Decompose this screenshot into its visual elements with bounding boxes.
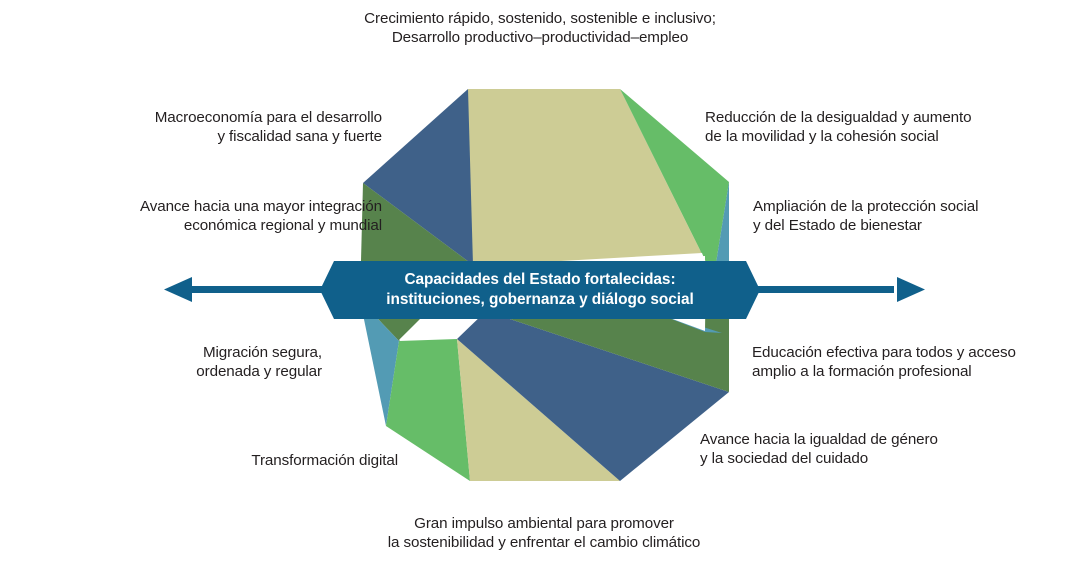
- banner-line-1: Capacidades del Estado fortalecidas:: [404, 270, 675, 290]
- label-digital-transformation: Transformación digital: [100, 452, 398, 471]
- label-inequality-reduction: Reducción de la desigualdad y aumento de…: [705, 109, 1035, 147]
- banner-line-2: instituciones, gobernanza y diálogo soci…: [386, 290, 693, 310]
- label-social-protection: Ampliación de la protección social y del…: [753, 198, 1053, 236]
- label-regional-integration: Avance hacia una mayor integración econó…: [56, 198, 382, 236]
- label-education: Educación efectiva para todos y acceso a…: [752, 344, 1050, 382]
- center-banner-text: Capacidades del Estado fortalecidas: ins…: [334, 261, 746, 319]
- label-growth-development: Crecimiento rápido, sostenido, sostenibl…: [334, 10, 746, 48]
- label-environmental-push: Gran impulso ambiental para promover la …: [340, 515, 748, 553]
- label-macroeconomics: Macroeconomía para el desarrollo y fisca…: [68, 109, 382, 147]
- label-migration: Migración segura, ordenada y regular: [100, 344, 322, 382]
- diagram-canvas: Capacidades del Estado fortalecidas: ins…: [0, 0, 1089, 568]
- label-gender-equality: Avance hacia la igualdad de género y la …: [700, 431, 1012, 469]
- left-arrow-head: [164, 277, 192, 302]
- banner-left-point: [320, 261, 334, 319]
- center-banner: Capacidades del Estado fortalecidas: ins…: [334, 261, 746, 319]
- right-arrow-head: [897, 277, 925, 302]
